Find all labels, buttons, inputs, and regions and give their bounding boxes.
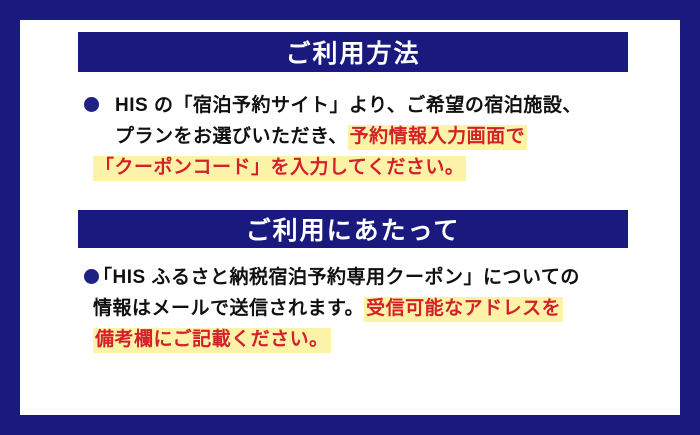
bullet-text-notes: 「HIS ふるさと納税宿泊予約専用クーポン」についての 情報はメールで送信されま…	[115, 262, 628, 355]
text-line: 備考欄にご記載ください。	[93, 324, 628, 355]
text-segment: プランをお選びいただき、	[115, 126, 348, 147]
highlighted-text-segment: 予約情報入力画面で	[348, 125, 528, 150]
bullet-dot-icon	[84, 97, 99, 112]
navy-outer-frame: ご利用方法 HIS の「宿泊予約サイト」より、ご希望の宿泊施設、 プランをお選び…	[0, 0, 700, 435]
text-segment: HIS の「宿泊予約サイト」より、ご希望の宿泊施設、	[115, 95, 582, 116]
white-card: ご利用方法 HIS の「宿泊予約サイト」より、ご希望の宿泊施設、 プランをお選び…	[20, 20, 680, 415]
text-segment: 情報はメールで送信されます。	[93, 298, 364, 319]
bullet-item-usage: HIS の「宿泊予約サイト」より、ご希望の宿泊施設、 プランをお選びいただき、予…	[78, 90, 628, 183]
text-segment: 「HIS ふるさと納税宿泊予約専用クーポン」についての	[93, 267, 580, 288]
bullet-item-notes: 「HIS ふるさと納税宿泊予約専用クーポン」についての 情報はメールで送信されま…	[78, 262, 628, 355]
highlighted-text-segment: 受信可能なアドレスを	[364, 297, 563, 322]
text-line: プランをお選びいただき、予約情報入力画面で	[115, 121, 628, 152]
text-line: 情報はメールで送信されます。受信可能なアドレスを	[93, 293, 628, 324]
section-header-usage: ご利用方法	[78, 32, 628, 72]
content-container: ご利用方法 HIS の「宿泊予約サイト」より、ご希望の宿泊施設、 プランをお選び…	[78, 32, 628, 355]
text-line: 「クーポンコード」を入力してください。	[93, 152, 628, 183]
section-header-notes: ご利用にあたって	[78, 210, 628, 248]
highlighted-text-segment: 備考欄にご記載ください。	[93, 328, 331, 353]
text-line: 「HIS ふるさと納税宿泊予約専用クーポン」についての	[93, 262, 628, 293]
text-line: HIS の「宿泊予約サイト」より、ご希望の宿泊施設、	[115, 90, 628, 121]
bullet-text-usage: HIS の「宿泊予約サイト」より、ご希望の宿泊施設、 プランをお選びいただき、予…	[115, 90, 628, 183]
highlighted-text-segment: 「クーポンコード」を入力してください。	[93, 156, 466, 181]
